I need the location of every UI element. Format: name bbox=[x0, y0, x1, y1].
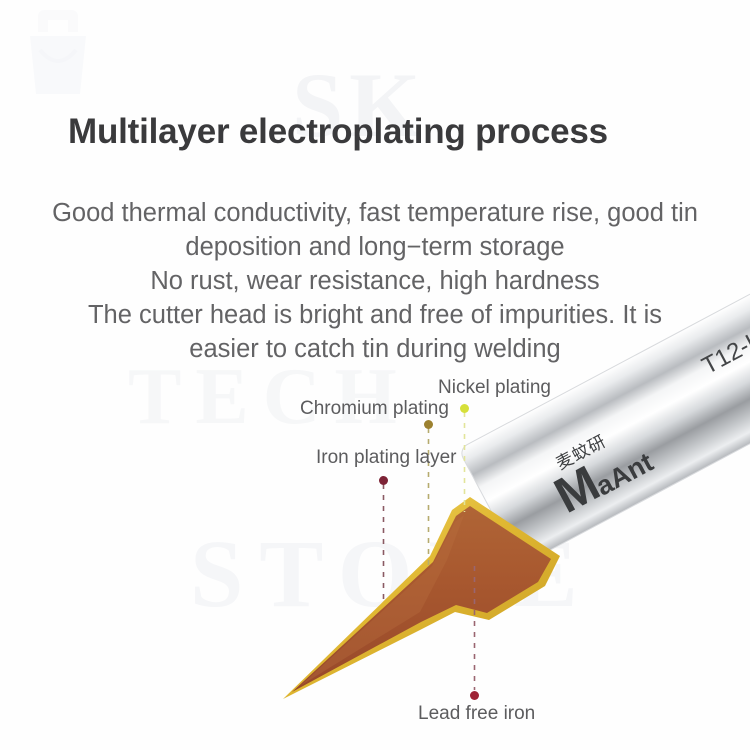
store-logo-watermark bbox=[18, 6, 98, 102]
description-line-3: No rust, wear resistance, high hardness bbox=[0, 264, 750, 298]
description-line-2: deposition and long−term storage bbox=[0, 230, 750, 264]
description-line-4: The cutter head is bright and free of im… bbox=[0, 298, 750, 332]
brand-text: M bbox=[545, 455, 608, 524]
page-title: Multilayer electroplating process bbox=[68, 112, 608, 152]
description-block: Good thermal conductivity, fast temperat… bbox=[0, 196, 750, 366]
callout-dot-iron bbox=[379, 476, 388, 485]
description-line-5: easier to catch tin during welding bbox=[0, 332, 750, 366]
callout-label-iron: Iron plating layer bbox=[316, 447, 456, 469]
product-infographic: SK TECH STORE Multilayer electroplating … bbox=[0, 0, 750, 750]
tip-highlight bbox=[300, 515, 464, 686]
watermark-store: STORE bbox=[190, 518, 594, 629]
brand-text-suffix: aAnt bbox=[591, 447, 658, 502]
callout-label-chromium: Chromium plating bbox=[300, 398, 449, 420]
brand-cn-text: 麦蚊研 bbox=[553, 431, 610, 473]
description-line-1: Good thermal conductivity, fast temperat… bbox=[0, 196, 750, 230]
tip-copper-core bbox=[292, 506, 551, 692]
callout-dot-nickel bbox=[460, 404, 469, 413]
callout-dot-lead bbox=[470, 691, 479, 700]
callout-label-lead: Lead free iron bbox=[418, 703, 535, 725]
callout-label-nickel: Nickel plating bbox=[438, 377, 551, 399]
callout-dot-chromium bbox=[424, 420, 433, 429]
tip-gold-plating bbox=[283, 497, 560, 699]
